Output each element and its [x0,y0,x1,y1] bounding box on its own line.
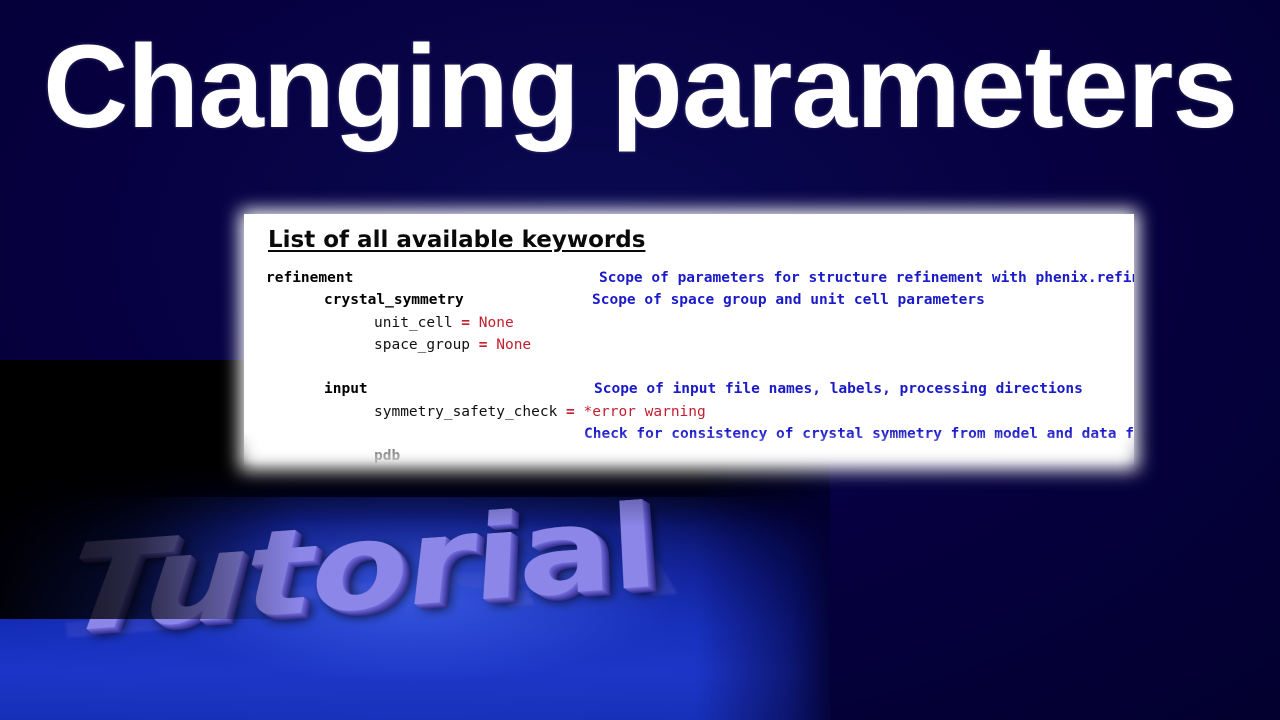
panel-surface: List of all available keywords refinemen… [244,214,1134,466]
keyword-row: pdb [244,448,1134,466]
keyword-row: Check for consistency of crystal symmetr… [244,426,1134,448]
keyword-equals: = [557,404,583,420]
keyword-row: symmetry_safety_check = *error warning [244,404,1134,426]
keyword-entry: space_group = None [374,337,531,353]
keyword-description: Check for consistency of crystal symmetr… [584,426,1134,442]
keyword-value: *error warning [584,404,706,420]
keyword-value: None [479,315,514,331]
keyword-entry: symmetry_safety_check = *error warning [374,404,706,420]
keyword-entry: refinement [266,270,353,286]
keyword-scope: pdb [374,448,400,464]
keyword-name: symmetry_safety_check [374,404,557,420]
keyword-row: refinementScope of parameters for struct… [244,270,1134,292]
keyword-value: None [496,337,531,353]
keyword-row: space_group = None [244,337,1134,359]
page-title: Changing parameters [0,28,1280,146]
slide-canvas: Changing parameters Tutorial Tutorial Li… [0,0,1280,720]
keywords-panel: List of all available keywords refinemen… [240,210,1138,470]
keyword-scope: refinement [266,270,353,286]
keyword-scope: crystal_symmetry [324,292,464,308]
panel-heading: List of all available keywords [268,227,645,253]
keyword-entry: unit_cell = None [374,315,514,331]
keyword-description: Scope of space group and unit cell param… [592,292,985,308]
keyword-name: space_group [374,337,470,353]
keyword-scope: input [324,381,368,397]
keyword-list: refinementScope of parameters for struct… [244,270,1134,466]
keyword-description: Scope of parameters for structure refine… [599,270,1134,286]
keyword-entry: pdb [374,448,400,464]
keyword-entry: input [324,381,368,397]
keyword-row: unit_cell = None [244,315,1134,337]
keyword-name: unit_cell [374,315,453,331]
keyword-equals: = [470,337,496,353]
keyword-row: crystal_symmetryScope of space group and… [244,292,1134,314]
keyword-entry: crystal_symmetry [324,292,464,308]
keyword-description: Scope of input file names, labels, proce… [594,381,1083,397]
keyword-row: inputScope of input file names, labels, … [244,381,1134,403]
keyword-equals: = [453,315,479,331]
keyword-row [244,359,1134,381]
